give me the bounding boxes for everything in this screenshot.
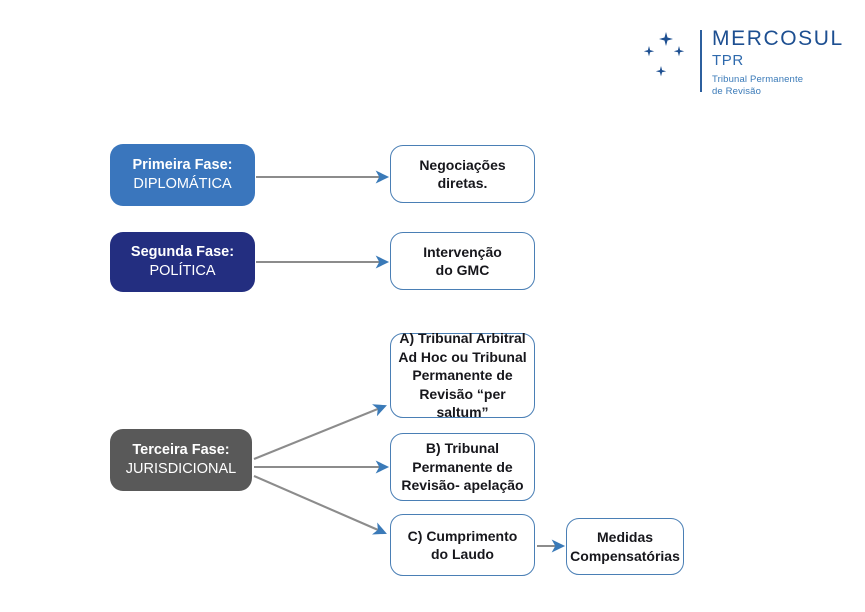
- tribunal-b-line-2: Permanente de: [401, 458, 523, 477]
- medidas-line-2: Compensatórias: [570, 547, 680, 566]
- outcome-box-cumprimento-do-laudo-text: C) Cumprimento do Laudo: [401, 527, 525, 564]
- outcome-box-tribunal-arbitral-ad-hoc[interactable]: A) Tribunal Arbitral Ad Hoc ou Tribunal …: [390, 333, 535, 418]
- phase-box-segunda-fase-text: Segunda Fase: POLÍTICA: [124, 243, 241, 281]
- intervencao-line-1: Intervenção: [423, 243, 502, 262]
- phase-box-terceira-fase[interactable]: Terceira Fase: JURISDICIONAL: [110, 429, 252, 491]
- phase1-line-2: DIPLOMÁTICA: [133, 175, 233, 194]
- negociacoes-line-1: Negociações: [419, 156, 505, 175]
- phase2-line-2: POLÍTICA: [131, 262, 234, 281]
- tribunal-b-line-1: B) Tribunal: [401, 439, 523, 458]
- outcome-box-tribunal-permanente-apelacao[interactable]: B) Tribunal Permanente de Revisão- apela…: [390, 433, 535, 501]
- outcome-box-negociacoes-diretas[interactable]: Negociações diretas.: [390, 145, 535, 203]
- outcome-box-negociacoes-diretas-text: Negociações diretas.: [412, 156, 512, 193]
- intervencao-line-2: do GMC: [423, 261, 502, 280]
- outcome-box-tribunal-arbitral-ad-hoc-text: A) Tribunal Arbitral Ad Hoc ou Tribunal …: [391, 329, 534, 422]
- outcome-box-medidas-compensatorias-text: Medidas Compensatórias: [563, 528, 687, 565]
- outcome-box-tribunal-permanente-apelacao-text: B) Tribunal Permanente de Revisão- apela…: [394, 439, 530, 495]
- phase-box-terceira-fase-text: Terceira Fase: JURISDICIONAL: [119, 441, 243, 479]
- logo-subtitle-line-2: de Revisão: [712, 86, 844, 98]
- logo-title: MERCOSUL: [712, 28, 844, 50]
- tribunal-a-line-3: Permanente de: [398, 366, 527, 385]
- cumprimento-line-2: do Laudo: [408, 545, 518, 564]
- phase2-line-1: Segunda Fase:: [131, 243, 234, 262]
- logo-subtitle: Tribunal Permanente de Revisão: [712, 74, 844, 97]
- tribunal-a-line-1: A) Tribunal Arbitral: [398, 329, 527, 348]
- tribunal-a-line-4: Revisão “per saltum”: [398, 385, 527, 422]
- logo-wordmark: MERCOSUL TPR Tribunal Permanente de Revi…: [712, 28, 844, 97]
- outcome-box-intervencao-gmc-text: Intervenção do GMC: [416, 243, 509, 280]
- medidas-line-1: Medidas: [570, 528, 680, 547]
- outcome-box-medidas-compensatorias[interactable]: Medidas Compensatórias: [566, 518, 684, 575]
- phase3-line-2: JURISDICIONAL: [126, 460, 236, 479]
- constellation-stars-icon: [636, 28, 696, 88]
- arrow-phase3-to-tribunal-a: [254, 406, 385, 459]
- logo-divider: [700, 30, 702, 92]
- phase3-line-1: Terceira Fase:: [126, 441, 236, 460]
- phase-box-primeira-fase[interactable]: Primeira Fase: DIPLOMÁTICA: [110, 144, 255, 206]
- tribunal-a-line-2: Ad Hoc ou Tribunal: [398, 348, 527, 367]
- tribunal-b-line-3: Revisão- apelação: [401, 476, 523, 495]
- outcome-box-cumprimento-do-laudo[interactable]: C) Cumprimento do Laudo: [390, 514, 535, 576]
- logo-subtitle-line-1: Tribunal Permanente: [712, 74, 844, 86]
- negociacoes-line-2: diretas.: [419, 174, 505, 193]
- phase1-line-1: Primeira Fase:: [133, 156, 233, 175]
- outcome-box-intervencao-gmc[interactable]: Intervenção do GMC: [390, 232, 535, 290]
- arrow-phase3-to-cumprimento: [254, 476, 385, 533]
- logo-acronym: TPR: [712, 51, 844, 70]
- phase-box-primeira-fase-text: Primeira Fase: DIPLOMÁTICA: [126, 156, 240, 194]
- mercosul-tpr-logo: MERCOSUL TPR Tribunal Permanente de Revi…: [636, 28, 836, 100]
- cumprimento-line-1: C) Cumprimento: [408, 527, 518, 546]
- phase-box-segunda-fase[interactable]: Segunda Fase: POLÍTICA: [110, 232, 255, 292]
